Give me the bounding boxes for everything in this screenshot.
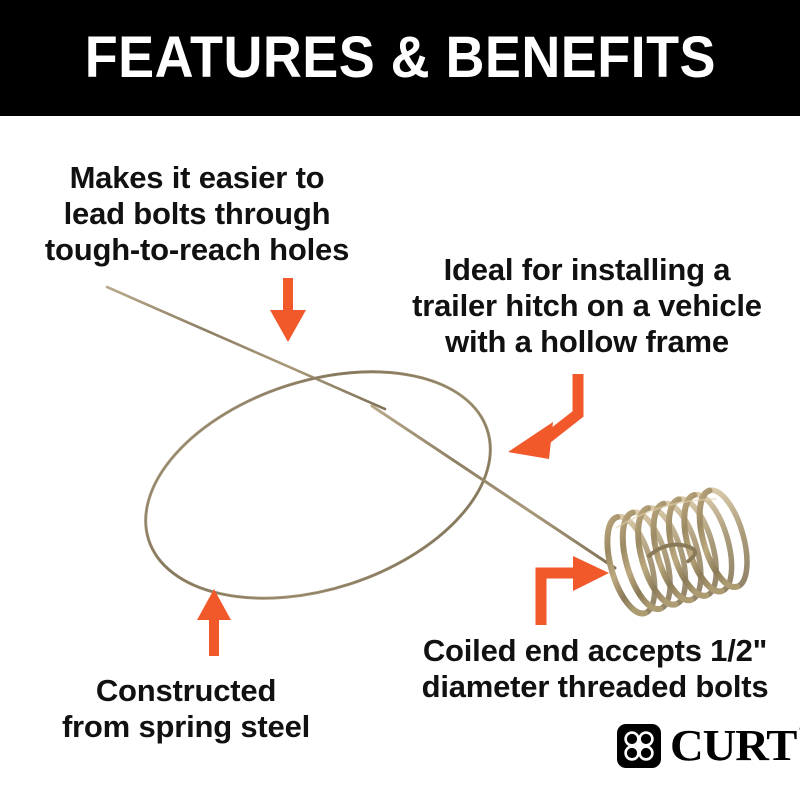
callout-line: trailer hitch on a vehicle [392,288,782,324]
page-title: FEATURES & BENEFITS [84,29,715,87]
callout-line: diameter threaded bolts [400,669,790,705]
brand-logo: CURT ® [617,723,789,769]
brand-wordmark-text: CURT [670,721,796,770]
header-bar: FEATURES & BENEFITS [0,0,800,116]
coil-end [598,485,756,619]
callout-line: tough-to-reach holes [22,232,372,268]
callout-line: Ideal for installing a [392,252,782,288]
callout-line: with a hollow frame [392,324,782,360]
wire-to-coil [372,406,615,568]
wire-tail [107,287,385,409]
callout-coiled-end: Coiled end accepts 1/2" diameter threade… [400,633,790,705]
curt-clover-logo-icon [617,724,661,768]
callout-line: lead bolts through [22,196,372,232]
wire-loop [117,331,520,639]
callout-line: Makes it easier to [22,160,372,196]
features-benefits-infographic: FEATURES & BENEFITS [0,0,800,800]
callout-hollow-frame: Ideal for installing a trailer hitch on … [392,252,782,360]
callout-lead-bolts: Makes it easier to lead bolts through to… [22,160,372,268]
callout-line: from spring steel [36,709,336,745]
callout-line: Coiled end accepts 1/2" [400,633,790,669]
brand-wordmark: CURT ® [670,724,796,768]
callout-line: Constructed [36,673,336,709]
callout-spring-steel: Constructed from spring steel [36,673,336,745]
